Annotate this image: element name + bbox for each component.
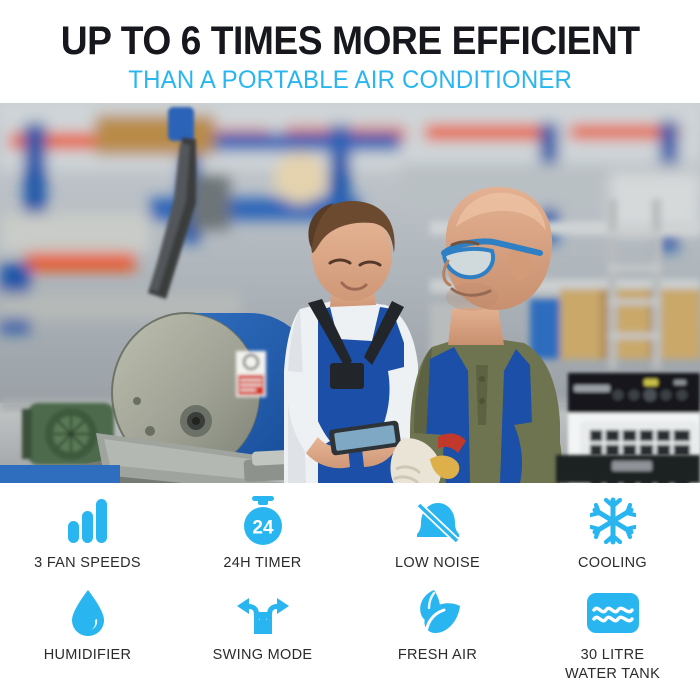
feature-grid: 3 FAN SPEEDS 24 24H TIMER: [0, 483, 700, 700]
swing-arrows-icon: [235, 587, 291, 639]
water-droplet-icon: [69, 587, 107, 639]
feature-humidifier[interactable]: HUMIDIFIER: [0, 587, 175, 684]
feature-label: FRESH AIR: [398, 646, 477, 665]
feature-label: HUMIDIFIER: [44, 646, 132, 665]
product-feature-banner: UP TO 6 TIMES MORE EFFICIENT THAN A PORT…: [0, 0, 700, 700]
feature-label: 3 FAN SPEEDS: [34, 554, 141, 573]
page-subtitle: THAN A PORTABLE AIR CONDITIONER: [128, 65, 572, 95]
feature-cooling[interactable]: COOLING: [525, 495, 700, 573]
snowflake-icon: [590, 495, 636, 547]
feature-row-2: HUMIDIFIER SWING MODE: [0, 587, 700, 684]
feature-row-1: 3 FAN SPEEDS 24 24H TIMER: [0, 495, 700, 573]
water-tank-icon: [587, 587, 639, 639]
feature-fresh-air[interactable]: FRESH AIR: [350, 587, 525, 684]
feature-24h-timer[interactable]: 24 24H TIMER: [175, 495, 350, 573]
timer-badge-text: 24: [252, 518, 274, 539]
warning-sticker: [236, 351, 266, 397]
header: UP TO 6 TIMES MORE EFFICIENT THAN A PORT…: [0, 0, 700, 103]
feature-label: SWING MODE: [213, 646, 313, 665]
feature-label: 30 LITRE WATER TANK: [565, 646, 660, 684]
feature-label: COOLING: [578, 554, 647, 573]
feature-swing-mode[interactable]: SWING MODE: [175, 587, 350, 684]
feature-label: 24H TIMER: [223, 554, 301, 573]
feature-low-noise[interactable]: LOW NOISE: [350, 495, 525, 573]
page-title: UP TO 6 TIMES MORE EFFICIENT: [61, 19, 640, 63]
feature-fan-speeds[interactable]: 3 FAN SPEEDS: [0, 495, 175, 573]
leaf-icon: [412, 587, 464, 639]
feature-label: LOW NOISE: [395, 554, 480, 573]
muted-speaker-icon: [415, 495, 461, 547]
hero-photo: [0, 103, 700, 483]
feature-water-tank[interactable]: 30 LITRE WATER TANK: [525, 587, 700, 684]
stopwatch-24-icon: 24: [239, 495, 287, 547]
fan-speed-bars-icon: [64, 495, 112, 547]
workshop-scene-illustration: [0, 103, 700, 483]
